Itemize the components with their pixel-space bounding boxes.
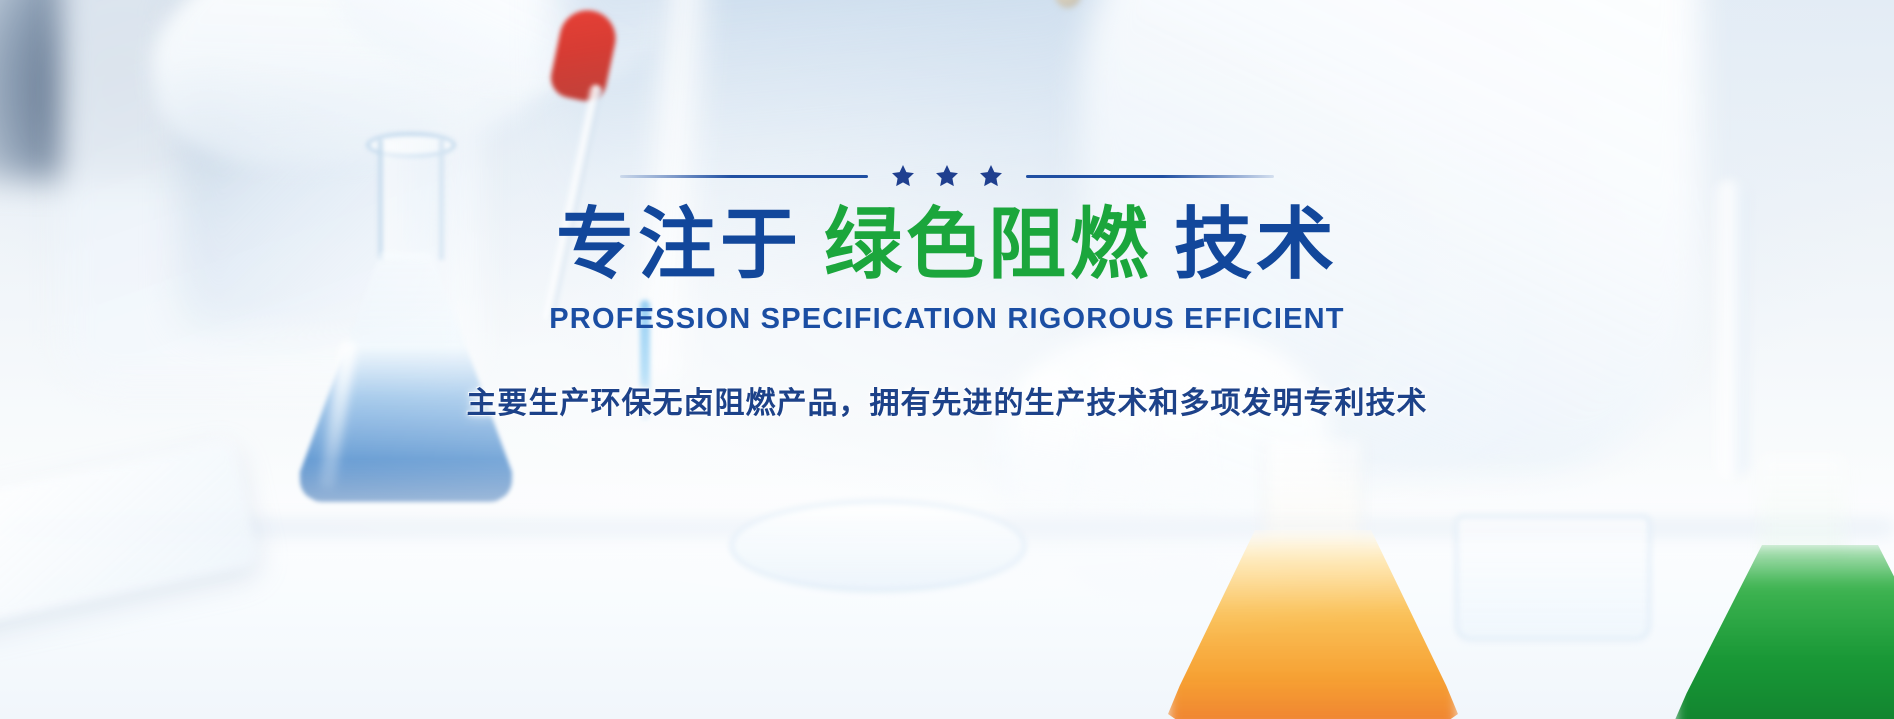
headline-part-2: 绿色阻燃 bbox=[824, 200, 1152, 290]
decorative-divider bbox=[617, 163, 1277, 189]
headline-part-1: 专注于 bbox=[556, 200, 802, 290]
divider-line-right bbox=[1026, 175, 1274, 178]
headline: 专注于绿色阻燃技术 bbox=[556, 203, 1338, 287]
star-group bbox=[868, 163, 1026, 189]
star-icon bbox=[978, 163, 1004, 189]
star-icon bbox=[890, 163, 916, 189]
subtitle-english: PROFESSION SPECIFICATION RIGOROUS EFFICI… bbox=[549, 303, 1344, 336]
hero-banner: 专注于绿色阻燃技术 PROFESSION SPECIFICATION RIGOR… bbox=[0, 0, 1894, 719]
headline-part-3: 技术 bbox=[1174, 200, 1338, 290]
description-line: 主要生产环保无卤阻燃产品，拥有先进的生产技术和多项发明专利技术 bbox=[467, 378, 1428, 422]
star-icon bbox=[934, 163, 960, 189]
banner-content: 专注于绿色阻燃技术 PROFESSION SPECIFICATION RIGOR… bbox=[0, 0, 1894, 719]
divider-line-left bbox=[620, 175, 868, 178]
